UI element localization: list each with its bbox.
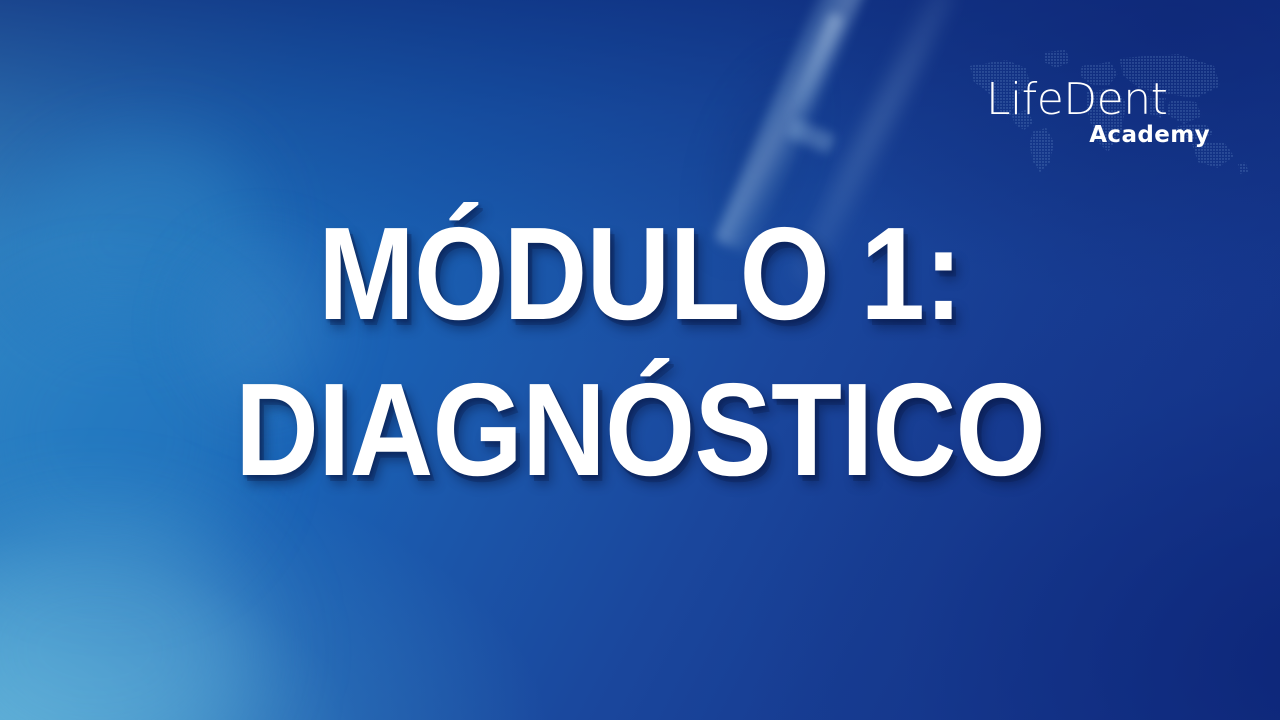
brand-logo: LifeDent Academy	[986, 78, 1212, 147]
blurred-bokeh-shape-icon	[196, 250, 326, 400]
dental-handpiece-tip-icon	[783, 12, 845, 129]
background-base-gradient	[0, 0, 1280, 720]
dental-handpiece-shadow-icon	[661, 17, 859, 293]
slide-title-line-1: MÓDULO 1:	[77, 196, 1203, 352]
background-bottom-left-glow	[0, 0, 1280, 720]
background-top-right-pool	[0, 0, 1280, 720]
dental-handpiece-collar-icon	[786, 118, 836, 154]
background-top-shade	[0, 0, 1280, 720]
slide-title-line-2: DIAGNÓSTICO	[77, 352, 1203, 508]
blurred-bokeh-shape-icon	[0, 111, 280, 360]
light-streak-icon	[791, 0, 954, 290]
dental-handpiece-icon	[713, 0, 871, 257]
slide-title: MÓDULO 1: DIAGNÓSTICO	[0, 196, 1280, 508]
world-map-dots-icon	[952, 44, 1252, 176]
brand-tagline: Academy	[986, 123, 1212, 147]
blurred-bokeh-shape-icon	[0, 290, 250, 580]
background-bottom-right-pool	[0, 0, 1280, 720]
title-slide: LifeDent Academy MÓDULO 1: DIAGNÓSTICO	[0, 0, 1280, 720]
blurred-bokeh-shape-icon	[0, 520, 260, 720]
background-top-right-shade	[0, 0, 1280, 720]
brand-name: LifeDent	[986, 78, 1212, 121]
